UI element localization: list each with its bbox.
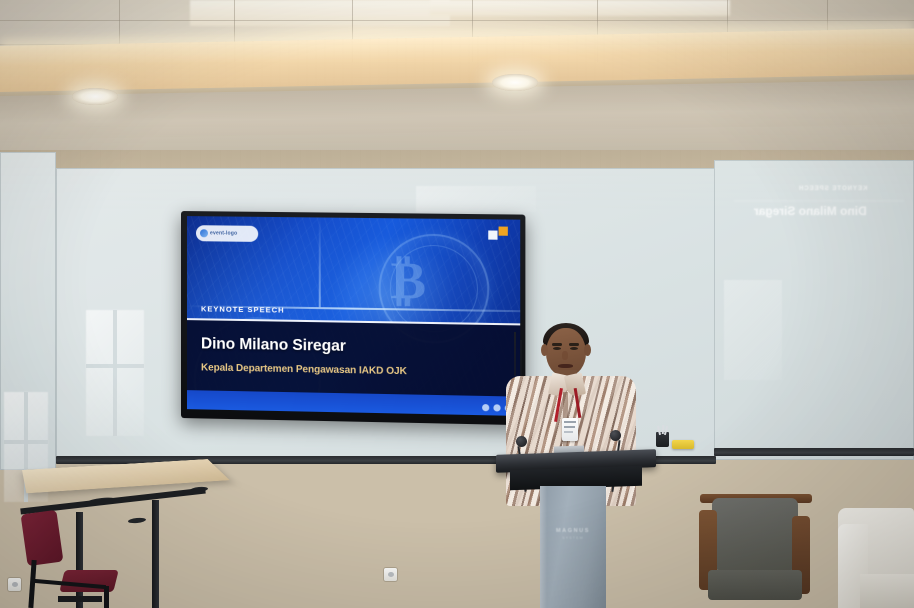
id-badge	[562, 418, 578, 441]
accent-square-orange	[499, 227, 508, 236]
logo-mark-icon	[200, 229, 208, 237]
downlight-icon	[492, 74, 538, 91]
wall-outlet[interactable]	[384, 568, 397, 581]
microphone-left[interactable]	[516, 436, 527, 447]
presentation-display[interactable]: ₿ event-logo KEYNOTE SPEECH Dino Milano …	[181, 211, 525, 425]
accent-square-white	[488, 230, 497, 239]
chair-backrest[interactable]	[21, 510, 64, 567]
whiteboard-right: KEYNOTE SPEECH Dino Milano Siregar	[714, 160, 914, 460]
nose	[562, 351, 568, 360]
desk-leg	[76, 512, 83, 608]
photo-scene: KEYNOTE SPEECH Dino Milano Siregar ₿ eve	[0, 0, 914, 608]
wall-outlet[interactable]	[8, 578, 21, 591]
eye-right	[570, 347, 578, 350]
mouth	[558, 364, 573, 368]
whiteboard-ledge-right	[714, 448, 914, 456]
sofa-seat[interactable]	[860, 574, 914, 608]
reflected-speaker-name: Dino Milano Siregar	[754, 204, 867, 218]
tv-screen: ₿ event-logo KEYNOTE SPEECH Dino Milano …	[187, 216, 520, 416]
podium-wordmark: MAGNUS	[540, 528, 606, 534]
armchair-seat[interactable]	[708, 570, 802, 600]
event-logo: event-logo	[196, 225, 258, 242]
bitcoin-symbol-icon: ₿	[391, 255, 426, 308]
reflected-kicker: KEYNOTE SPEECH	[798, 186, 867, 192]
ear-right	[584, 344, 591, 356]
eyebrow-right	[569, 343, 579, 346]
armchair-backrest[interactable]	[712, 498, 798, 570]
slide-glow-line-vertical	[319, 217, 321, 306]
whiteboard-left	[0, 152, 56, 470]
slide-kicker: KEYNOTE SPEECH	[201, 305, 285, 315]
desk-grommet	[128, 517, 146, 524]
podium-column-highlight	[540, 486, 547, 608]
microphone-right[interactable]	[610, 430, 621, 441]
ear-left	[541, 344, 548, 356]
marker-cup[interactable]	[656, 432, 669, 447]
eye-left	[553, 347, 561, 350]
desk-leg	[152, 500, 159, 608]
logo-wordmark: event-logo	[210, 230, 237, 236]
chair-leg	[104, 586, 109, 608]
podium-column	[540, 486, 606, 608]
downlight-icon	[72, 88, 118, 105]
chair-leg	[28, 560, 36, 608]
eyebrow-left	[552, 343, 562, 346]
slide-text-panel	[187, 320, 520, 396]
podium-wordmark-sub: SYSTEM	[540, 536, 606, 540]
desk-foot	[58, 596, 102, 602]
whiteboard-eraser[interactable]	[672, 440, 694, 449]
podium: MAGNUS SYSTEM	[496, 452, 656, 608]
tv-bezel: ₿ event-logo KEYNOTE SPEECH Dino Milano …	[181, 211, 525, 425]
slide-speaker-name: Dino Milano Siregar	[201, 335, 346, 356]
